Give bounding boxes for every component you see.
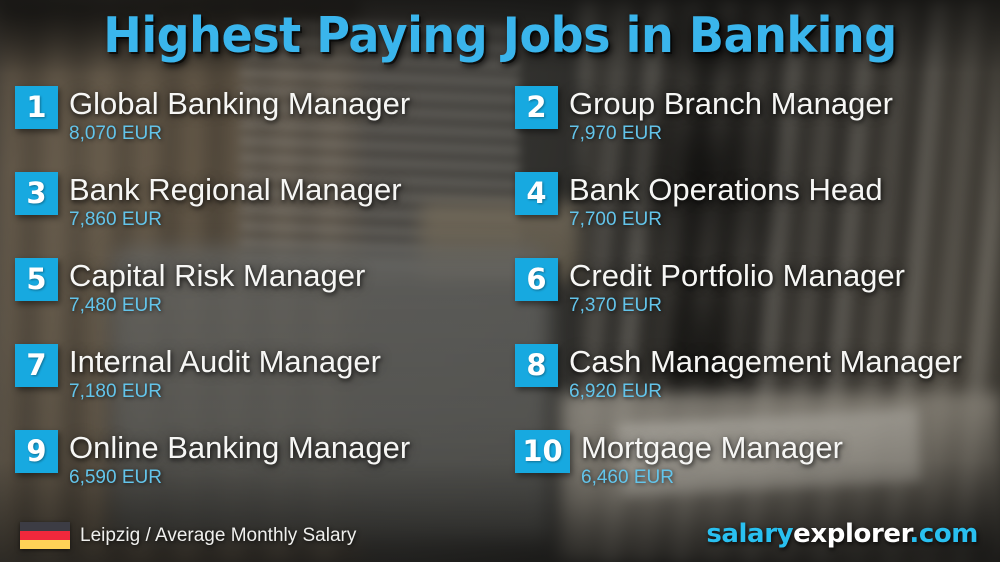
job-title: Online Banking Manager	[69, 430, 410, 466]
list-item-texts: Global Banking Manager 8,070 EUR	[69, 86, 410, 145]
job-salary: 7,370 EUR	[569, 295, 905, 317]
list-item-texts: Capital Risk Manager 7,480 EUR	[69, 258, 365, 317]
flag-band-gold	[20, 540, 70, 549]
ranking-column-right: 2 Group Branch Manager 7,970 EUR 4 Bank …	[500, 86, 1000, 504]
list-item-texts: Internal Audit Manager 7,180 EUR	[69, 344, 381, 403]
job-salary: 6,460 EUR	[581, 467, 843, 489]
job-salary: 7,480 EUR	[69, 295, 365, 317]
logo-part-tld: .com	[909, 519, 978, 549]
rank-badge: 1	[15, 86, 58, 129]
job-salary: 7,860 EUR	[69, 209, 402, 231]
list-item-texts: Credit Portfolio Manager 7,370 EUR	[569, 258, 905, 317]
job-salary: 7,970 EUR	[569, 123, 893, 145]
footer: Leipzig / Average Monthly Salary salarye…	[0, 504, 1000, 562]
job-title: Mortgage Manager	[581, 430, 843, 466]
logo-part-explorer: explorer	[793, 519, 909, 549]
list-item[interactable]: 1 Global Banking Manager 8,070 EUR	[15, 86, 410, 160]
job-title: Credit Portfolio Manager	[569, 258, 905, 294]
rank-badge: 10	[515, 430, 570, 473]
rank-badge: 7	[15, 344, 58, 387]
site-logo[interactable]: salaryexplorer.com	[706, 518, 978, 550]
job-salary: 6,590 EUR	[69, 467, 410, 489]
job-title: Global Banking Manager	[69, 86, 410, 122]
germany-flag-icon	[20, 522, 70, 549]
list-item[interactable]: 8 Cash Management Manager 6,920 EUR	[515, 344, 962, 418]
list-item[interactable]: 5 Capital Risk Manager 7,480 EUR	[15, 258, 365, 332]
list-item-texts: Mortgage Manager 6,460 EUR	[581, 430, 843, 489]
logo-part-salary: salary	[706, 519, 793, 549]
rank-badge: 9	[15, 430, 58, 473]
rank-badge: 3	[15, 172, 58, 215]
list-item-texts: Online Banking Manager 6,590 EUR	[69, 430, 410, 489]
rank-badge: 5	[15, 258, 58, 301]
rank-badge: 6	[515, 258, 558, 301]
job-title: Internal Audit Manager	[69, 344, 381, 380]
list-item-texts: Bank Operations Head 7,700 EUR	[569, 172, 883, 231]
ranking-column-left: 1 Global Banking Manager 8,070 EUR 3 Ban…	[0, 86, 500, 504]
job-title: Bank Regional Manager	[69, 172, 402, 208]
job-salary: 7,700 EUR	[569, 209, 883, 231]
list-item[interactable]: 2 Group Branch Manager 7,970 EUR	[515, 86, 893, 160]
job-salary: 7,180 EUR	[69, 381, 381, 403]
rank-badge: 8	[515, 344, 558, 387]
list-item-texts: Group Branch Manager 7,970 EUR	[569, 86, 893, 145]
list-item[interactable]: 7 Internal Audit Manager 7,180 EUR	[15, 344, 381, 418]
flag-band-black	[20, 522, 70, 531]
list-item-texts: Bank Regional Manager 7,860 EUR	[69, 172, 402, 231]
page-title: Highest Paying Jobs in Banking	[30, 7, 970, 64]
flag-band-red	[20, 531, 70, 540]
job-salary: 8,070 EUR	[69, 123, 410, 145]
rank-badge: 4	[515, 172, 558, 215]
job-salary: 6,920 EUR	[569, 381, 962, 403]
list-item[interactable]: 6 Credit Portfolio Manager 7,370 EUR	[515, 258, 905, 332]
job-title: Bank Operations Head	[569, 172, 883, 208]
list-item[interactable]: 10 Mortgage Manager 6,460 EUR	[515, 430, 843, 504]
list-item[interactable]: 4 Bank Operations Head 7,700 EUR	[515, 172, 883, 246]
salary-infographic: Highest Paying Jobs in Banking 1 Global …	[0, 0, 1000, 562]
list-item[interactable]: 9 Online Banking Manager 6,590 EUR	[15, 430, 410, 504]
job-title: Cash Management Manager	[569, 344, 962, 380]
location-caption: Leipzig / Average Monthly Salary	[80, 524, 356, 547]
rank-badge: 2	[515, 86, 558, 129]
job-title: Group Branch Manager	[569, 86, 893, 122]
list-item[interactable]: 3 Bank Regional Manager 7,860 EUR	[15, 172, 402, 246]
ranking-list: 1 Global Banking Manager 8,070 EUR 3 Ban…	[0, 86, 1000, 504]
job-title: Capital Risk Manager	[69, 258, 365, 294]
list-item-texts: Cash Management Manager 6,920 EUR	[569, 344, 962, 403]
